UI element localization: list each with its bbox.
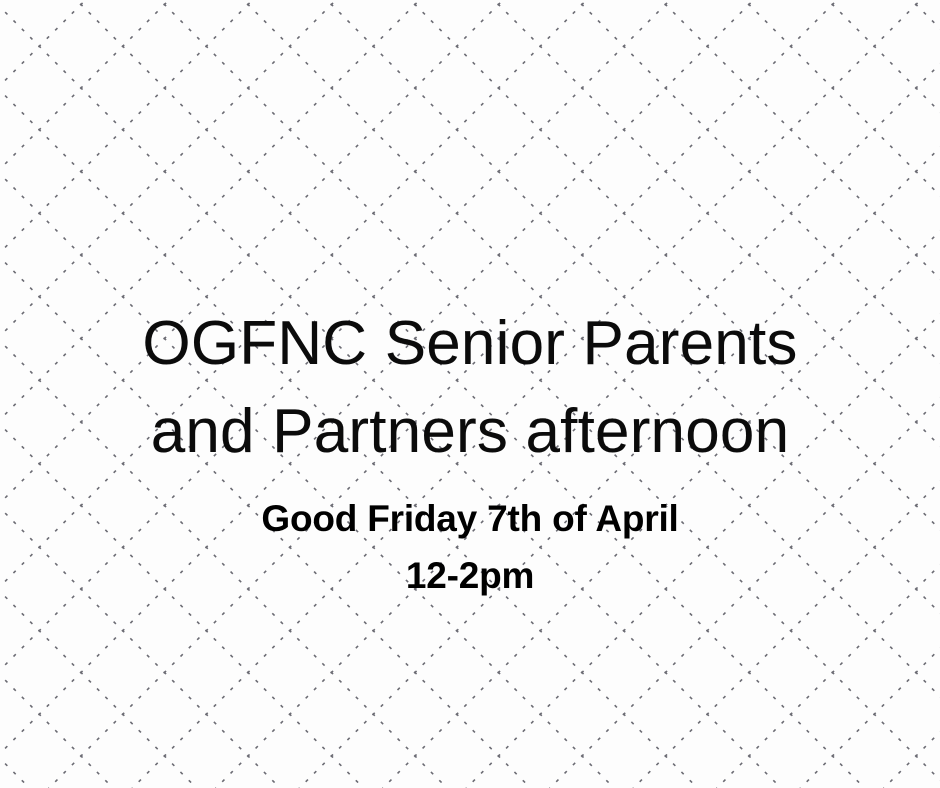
subheadline-time: 12-2pm bbox=[40, 547, 900, 604]
headline-line-1: OGFNC Senior Parents bbox=[40, 300, 900, 388]
subheadline-date: Good Friday 7th of April bbox=[40, 490, 900, 547]
poster-headline: OGFNC Senior Parents and Partners aftern… bbox=[40, 300, 900, 476]
poster-text-block: OGFNC Senior Parents and Partners aftern… bbox=[0, 300, 940, 605]
headline-line-2: and Partners afternoon bbox=[40, 388, 900, 476]
poster-subheadline: Good Friday 7th of April 12-2pm bbox=[40, 490, 900, 605]
poster-canvas: OGFNC Senior Parents and Partners aftern… bbox=[0, 0, 940, 788]
